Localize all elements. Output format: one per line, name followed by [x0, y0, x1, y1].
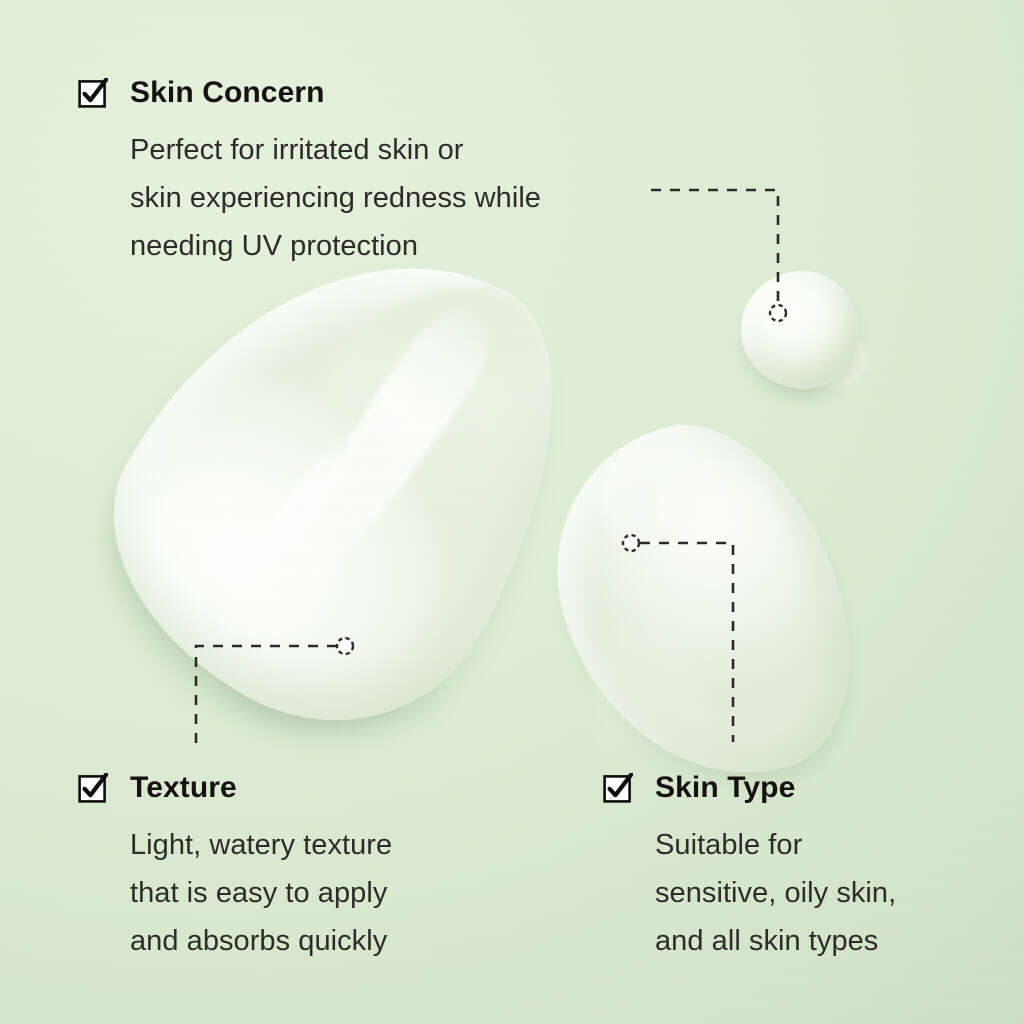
- cream-droplet-tail: [798, 330, 868, 390]
- feature-card-line: Perfect for irritated skin or: [130, 126, 541, 174]
- feature-card-body: Perfect for irritated skin or skin exper…: [130, 126, 541, 270]
- feature-card-line: sensitive, oily skin,: [655, 869, 896, 917]
- feature-card-texture: Texture Light, watery texture that is ea…: [78, 771, 392, 965]
- infographic-canvas: Skin Concern Perfect for irritated skin …: [0, 0, 1024, 1024]
- cream-main-swatch-highlight: [239, 289, 510, 641]
- feature-card-body: Light, watery texture that is easy to ap…: [130, 821, 392, 965]
- checkbox-checked-icon: [78, 773, 108, 803]
- feature-card-line: that is easy to apply: [130, 869, 392, 917]
- feature-card-line: skin experiencing redness while: [130, 174, 541, 222]
- cream-right-swatch: [522, 393, 883, 814]
- feature-card-line: and absorbs quickly: [130, 917, 392, 965]
- feature-card-skin-type: Skin Type Suitable for sensitive, oily s…: [603, 771, 896, 965]
- cream-main-swatch-highlight-secondary: [231, 419, 372, 595]
- feature-card-header: Skin Type: [603, 771, 896, 805]
- feature-card-title: Skin Type: [655, 773, 795, 803]
- callout-marker-skin-concern: [770, 305, 786, 321]
- cream-main-swatch-ridge: [284, 236, 590, 557]
- feature-card-skin-concern: Skin Concern Perfect for irritated skin …: [78, 76, 541, 270]
- feature-card-header: Texture: [78, 771, 392, 805]
- callout-line-skin-concern: [651, 190, 778, 305]
- feature-card-line: Light, watery texture: [130, 821, 392, 869]
- cream-main-swatch-shadow: [168, 630, 498, 750]
- feature-card-title: Texture: [130, 773, 237, 803]
- feature-card-line: and all skin types: [655, 917, 896, 965]
- checkbox-checked-icon: [603, 773, 633, 803]
- cream-right-swatch-highlight: [588, 430, 738, 568]
- checkbox-checked-icon: [78, 78, 108, 108]
- callout-line-skin-type: [640, 543, 733, 742]
- callout-marker-skin-type: [623, 535, 639, 551]
- feature-card-line: Suitable for: [655, 821, 896, 869]
- feature-card-header: Skin Concern: [78, 76, 541, 110]
- feature-card-body: Suitable for sensitive, oily skin, and a…: [655, 821, 896, 965]
- feature-card-title: Skin Concern: [130, 78, 325, 108]
- feature-card-line: needing UV protection: [130, 222, 541, 270]
